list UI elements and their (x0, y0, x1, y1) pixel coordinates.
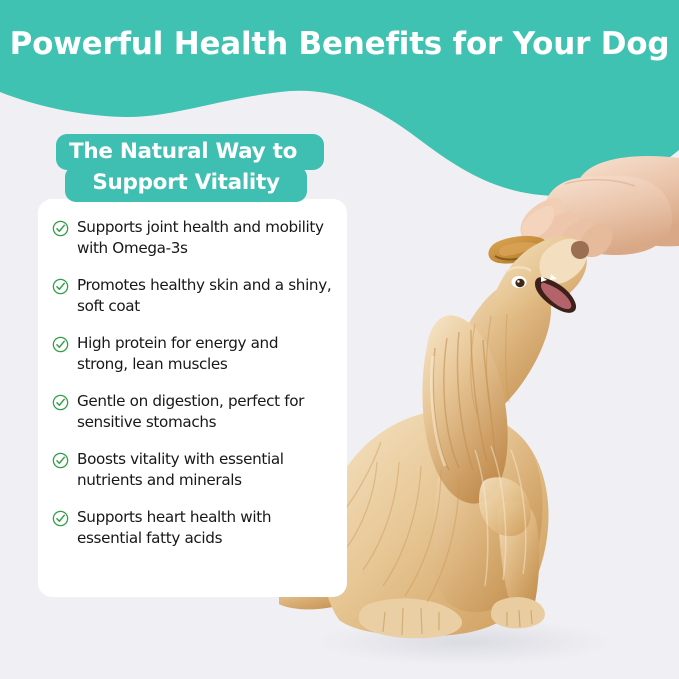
list-item: Supports joint health and mobility with … (52, 217, 333, 259)
badge-line-1: The Natural Way to (56, 134, 324, 170)
circled-check-icon (52, 452, 69, 469)
circled-check-icon (52, 278, 69, 295)
list-item: Promotes healthy skin and a shiny, soft … (52, 275, 333, 317)
list-item: Supports heart health with essential fat… (52, 507, 333, 549)
page-title: Powerful Health Benefits for Your Dog (0, 26, 679, 62)
infographic-canvas: Powerful Health Benefits for Your Dog (0, 0, 679, 679)
circled-check-icon (52, 336, 69, 353)
benefit-text: Boosts vitality with essential nutrients… (77, 449, 333, 491)
benefit-text: Promotes healthy skin and a shiny, soft … (77, 275, 333, 317)
list-item: Boosts vitality with essential nutrients… (52, 449, 333, 491)
list-item: Gentle on digestion, perfect for sensiti… (52, 391, 333, 433)
circled-check-icon (52, 220, 69, 237)
badge: The Natural Way to Support Vitality (56, 134, 324, 202)
benefit-text: High protein for energy and strong, lean… (77, 333, 333, 375)
circled-check-icon (52, 394, 69, 411)
benefit-text: Gentle on digestion, perfect for sensiti… (77, 391, 333, 433)
circled-check-icon (52, 510, 69, 527)
benefit-text: Supports joint health and mobility with … (77, 217, 333, 259)
benefit-list: Supports joint health and mobility with … (52, 217, 333, 549)
benefits-card: Supports joint health and mobility with … (38, 199, 347, 597)
list-item: High protein for energy and strong, lean… (52, 333, 333, 375)
badge-line-2: Support Vitality (65, 166, 307, 202)
benefit-text: Supports heart health with essential fat… (77, 507, 333, 549)
